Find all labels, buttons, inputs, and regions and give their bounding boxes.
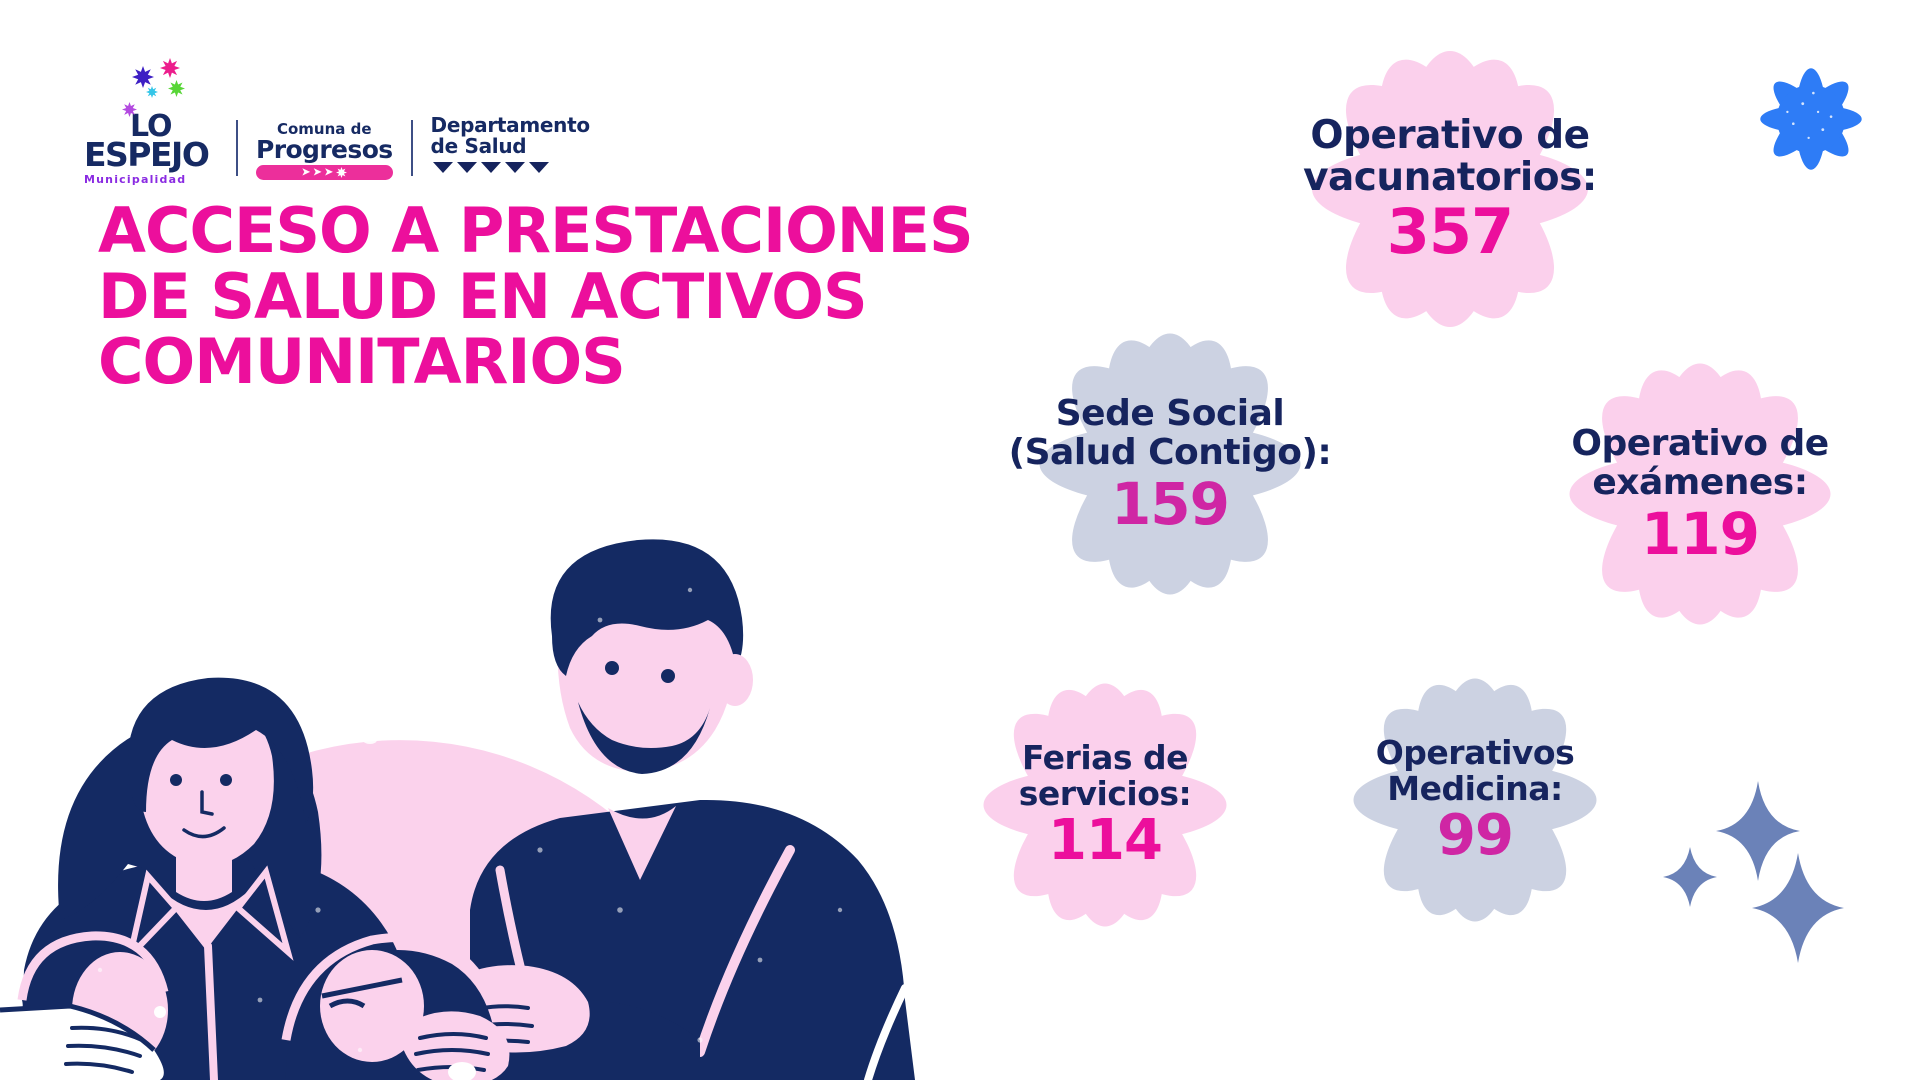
zigzag-underline-icon — [431, 161, 565, 175]
logo-sparkle-cluster — [84, 62, 218, 114]
stat-label-line2: servicios: — [930, 776, 1280, 812]
logo-comuna-progresos: Comuna de Progresos ➤ ➤ ➤ — [256, 122, 393, 186]
sparkle-group — [1650, 775, 1880, 965]
stat-label-line1: Operativo de — [1230, 115, 1670, 157]
stat-label-line2: vacunatorios: — [1230, 157, 1670, 199]
family-health-illustration — [0, 440, 960, 1080]
stat-operativo-examenes: Operativo de exámenes: 119 — [1500, 425, 1900, 563]
chevron-right-icon: ➤ — [324, 168, 332, 178]
logo-divider-2 — [411, 120, 413, 176]
chevron-right-icon: ➤ — [313, 168, 321, 178]
sparkle-icon — [1752, 853, 1844, 963]
stat-operativo-vacunatorios: Operativo de vacunatorios: 357 — [1230, 115, 1670, 263]
stat-label-line1: Ferias de — [930, 740, 1280, 776]
logo-block: LO ESPEJO Municipalidad Comuna de Progre… — [84, 62, 590, 186]
stat-value: 357 — [1230, 201, 1670, 263]
comuna-arrows-bar: ➤ ➤ ➤ — [256, 165, 393, 180]
departamento-line2: de Salud — [431, 136, 590, 157]
stat-label-line1: Sede Social — [960, 395, 1380, 434]
logo-word-espejo: ESPEJO — [84, 140, 218, 170]
chevron-right-icon: ➤ — [302, 168, 310, 178]
page-title: ACCESO A PRESTACIONES DE SALUD EN ACTIVO… — [98, 198, 1118, 395]
logo-lo-espejo: LO ESPEJO Municipalidad — [84, 62, 218, 186]
logo-departamento-salud: Departamento de Salud — [431, 115, 590, 186]
stat-ferias-servicios: Ferias de servicios: 114 — [930, 740, 1280, 869]
logo-divider-1 — [236, 120, 238, 176]
sparkle-icon — [1663, 847, 1717, 907]
stat-value: 159 — [960, 475, 1380, 533]
sparkle-icon — [336, 167, 347, 178]
sparkle-icon — [146, 86, 158, 98]
stat-label-line2: exámenes: — [1500, 464, 1900, 503]
stat-value: 119 — [1500, 505, 1900, 563]
stat-operativos-medicina: Operativos Medicina: 99 — [1300, 735, 1650, 864]
logo-municipalidad-label: Municipalidad — [84, 173, 218, 186]
stat-sede-social: Sede Social (Salud Contigo): 159 — [960, 395, 1380, 533]
stat-label-line1: Operativo de — [1500, 425, 1900, 464]
sparkle-icon — [1716, 781, 1800, 881]
page-title-line-1: ACCESO A PRESTACIONES — [98, 198, 1118, 264]
sparkle-icon — [132, 66, 154, 88]
departamento-line1: Departamento — [431, 115, 590, 136]
stat-value: 99 — [1300, 808, 1650, 864]
stat-label-line2: (Salud Contigo): — [960, 434, 1380, 473]
infographic-canvas: LO ESPEJO Municipalidad Comuna de Progre… — [0, 0, 1920, 1080]
sparkle-icon — [160, 58, 180, 78]
flower-burst-icon — [1752, 60, 1870, 178]
page-title-line-3: COMUNITARIOS — [98, 329, 1118, 395]
stat-label-line2: Medicina: — [1300, 771, 1650, 807]
stat-value: 114 — [930, 813, 1280, 869]
page-title-line-2: DE SALUD EN ACTIVOS — [98, 264, 1118, 330]
sparkle-icon — [168, 80, 185, 97]
comuna-progresos-label: Progresos — [256, 137, 393, 162]
sparkle-icon — [122, 102, 137, 117]
stat-label-line1: Operativos — [1300, 735, 1650, 771]
